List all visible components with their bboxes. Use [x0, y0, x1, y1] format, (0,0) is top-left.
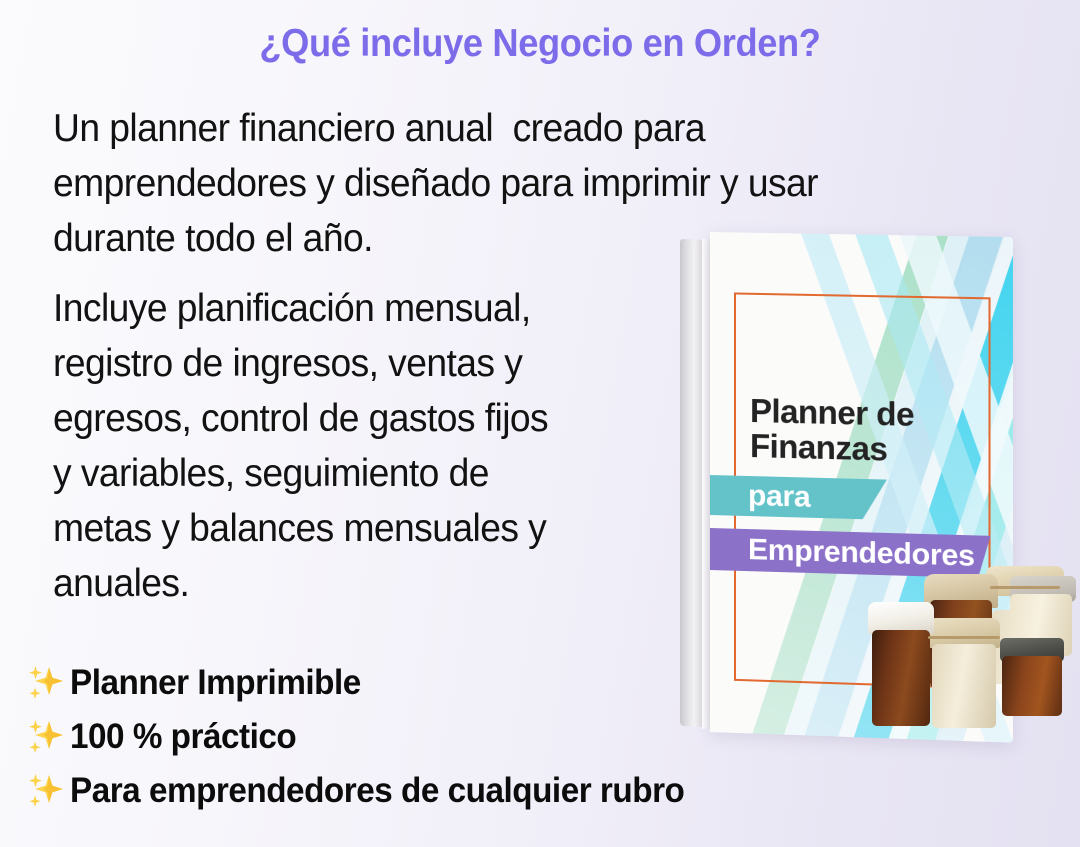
twine-tie	[990, 586, 1060, 589]
cream-jar-kraft-lid-front-middle	[932, 644, 996, 728]
promo-card: ¿Qué incluye Negocio en Orden? Un planne…	[0, 0, 1080, 847]
twine-tie	[928, 636, 1000, 639]
sparkles-icon	[22, 768, 68, 814]
sparkles-icon	[22, 660, 68, 706]
book-mockup-image: Planner de Finanzas para Emprendedores	[672, 228, 1080, 748]
feature-label: 100 % práctico	[70, 717, 296, 757]
product-jars	[870, 558, 1080, 736]
list-item: Para emprendedores de cualquier rubro	[22, 764, 717, 818]
feature-label: Para emprendedores de cualquier rubro	[70, 771, 684, 811]
amber-jar-white-lid-front-left	[872, 630, 930, 726]
list-item: 100 % práctico	[22, 710, 717, 764]
cover-band-para-label: para	[748, 479, 810, 515]
contents-paragraph: Incluye planificación mensual, registro …	[53, 281, 548, 611]
book-cover-title: Planner de Finanzas	[750, 393, 914, 467]
page-title: ¿Qué incluye Negocio en Orden?	[38, 22, 1042, 66]
feature-list: Planner Imprimible 100 % práctico	[22, 656, 717, 818]
sparkles-icon	[22, 714, 68, 760]
cover-band-para: para	[710, 474, 887, 519]
feature-label: Planner Imprimible	[70, 663, 361, 703]
list-item: Planner Imprimible	[22, 656, 717, 710]
amber-jar-dark-lid-front-right	[1002, 656, 1062, 716]
